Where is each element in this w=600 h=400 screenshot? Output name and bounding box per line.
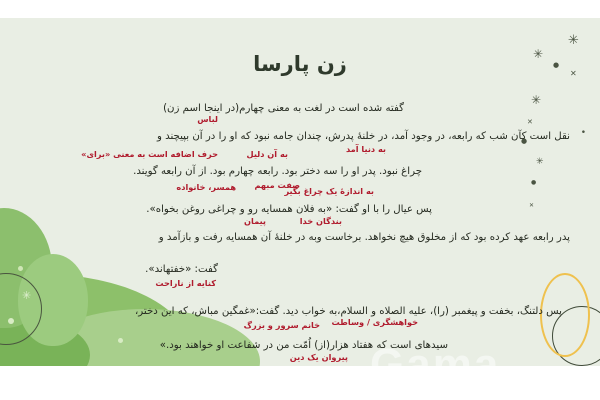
sparkle-icon: ✳ bbox=[568, 34, 579, 47]
gloss-3-1: همسر، خانواده bbox=[176, 182, 236, 192]
cross-icon: ✕ bbox=[529, 203, 534, 209]
sparkle-icon: ✳ bbox=[531, 94, 541, 106]
text-line-2: نقل است کآن شب که رابعه، در وجود آمد، در… bbox=[157, 131, 570, 142]
decorative-dot bbox=[118, 338, 123, 343]
text-line-5: پدر رابعه عهد کرده بود که از مخلوق هیچ ن… bbox=[159, 232, 570, 243]
gloss-3-3: به اندازهٔ یک چراغ بگیر bbox=[284, 186, 374, 196]
slide-stage: ✳ ✳ ✳ ● ✕ ✳ ✕ ● ✳ ● ✕ زن پارسا گفته شده … bbox=[0, 0, 600, 400]
cross-icon: ✕ bbox=[527, 119, 533, 126]
text-line-7: پس دلتنگ، بخفت و پیغمبر (را)، علیه الصلا… bbox=[135, 306, 562, 317]
gloss-6-1: کنایه از ناراحت bbox=[155, 278, 216, 288]
gloss-4-1: پیمان bbox=[244, 216, 266, 226]
sparkle-icon: ✳ bbox=[22, 290, 31, 301]
watermark: Gama bbox=[370, 340, 500, 366]
gloss-2-2: به آن دلیل bbox=[247, 149, 288, 159]
text-line-3: چراغ نبود. پدر او را سه دختر بود. رابعه … bbox=[133, 166, 422, 177]
text-line-4: پس عیال را با او گفت: «به فلان همسایه رو… bbox=[146, 204, 432, 215]
decorative-dot bbox=[18, 266, 23, 271]
gloss-7-2: خواهشگری / وساطت bbox=[332, 317, 419, 327]
gloss-1-1: لباس bbox=[197, 114, 218, 124]
dot-icon: ● bbox=[531, 180, 536, 186]
gloss-2-3: حرف اضافه است به معنی «برای» bbox=[81, 149, 218, 159]
page-title: زن پارسا bbox=[0, 52, 600, 76]
text-line-1: گفته شده است در لغت به معنی چهارم(در این… bbox=[163, 103, 404, 114]
sparkle-icon: ✳ bbox=[536, 158, 544, 167]
text-line-6: گفت: «خفتهاند». bbox=[145, 264, 218, 275]
gloss-8-1: پیروان یک دین bbox=[290, 352, 348, 362]
gloss-4-2: بندگان خدا bbox=[300, 216, 342, 226]
slide-canvas: ✳ ✳ ✳ ● ✕ ✳ ✕ ● ✳ ● ✕ زن پارسا گفته شده … bbox=[0, 18, 600, 366]
gloss-2-1: به دنیا آمد bbox=[346, 144, 386, 154]
bullet-marker: • bbox=[581, 128, 586, 138]
gloss-7-1: خانم سرور و بزرگ bbox=[244, 320, 320, 330]
decorative-dot bbox=[8, 318, 14, 324]
